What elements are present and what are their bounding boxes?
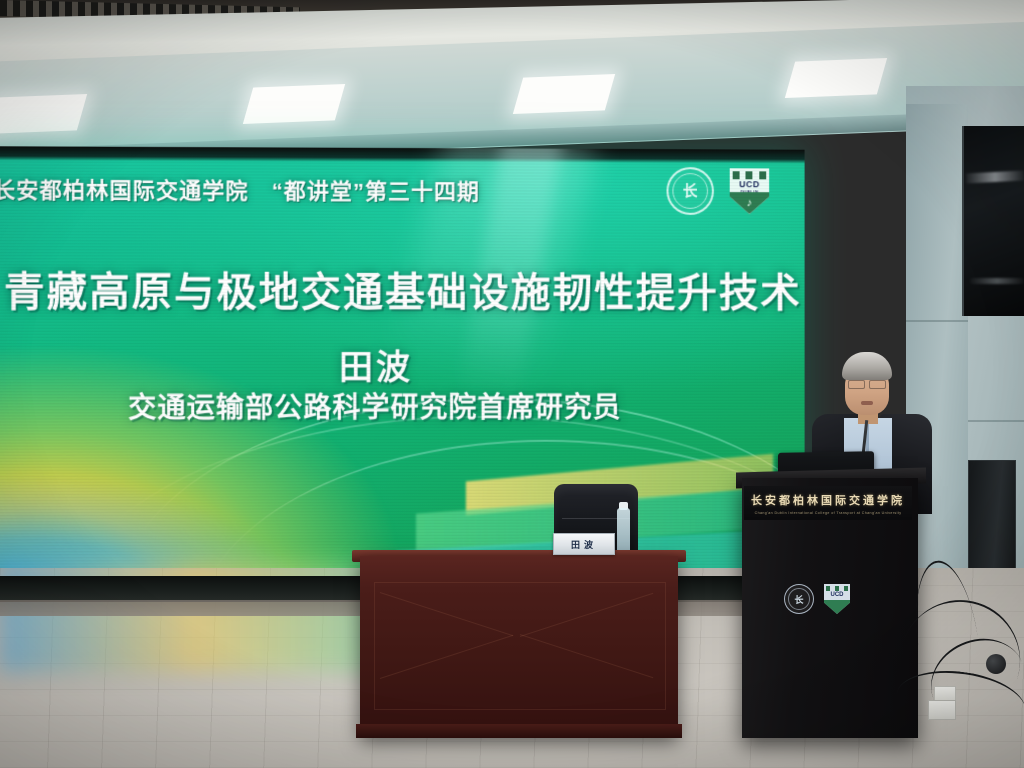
ucd-name: UCD <box>739 180 760 189</box>
desk-nameplate: 田波 <box>553 533 615 555</box>
ucd-harp-icon: ♪ <box>747 198 752 209</box>
led-header-text: 长安都柏林国际交通学院 “都讲堂”第三十四期 <box>0 172 480 206</box>
podium-sign-chinese: 长安都柏林国际交通学院 <box>751 492 905 508</box>
water-bottle <box>617 508 630 554</box>
lecture-hall-photo: 长安都柏林国际交通学院 “都讲堂”第三十四期 长 UCD DUBLIN ♪ 青藏… <box>0 0 1024 768</box>
ucd-castle-row <box>730 168 769 179</box>
podium-ucd-castle-row <box>824 584 850 591</box>
speaker-affiliation: 交通运输部公路科学研究院首席研究员 <box>0 386 753 427</box>
podium-ucd-castle-1 <box>826 586 830 591</box>
desk-nameplate-text: 田波 <box>571 538 597 551</box>
podium-logo-row: 长 UCD <box>784 584 850 614</box>
podium-ucd-castle-2 <box>835 586 839 591</box>
ceiling-light-3 <box>513 74 615 114</box>
mouth <box>861 401 873 405</box>
hair <box>842 352 892 380</box>
changan-university-seal-icon: 长 <box>666 167 713 215</box>
ceiling-light-2 <box>243 84 345 124</box>
led-display-screen: 长安都柏林国际交通学院 “都讲堂”第三十四期 长 UCD DUBLIN ♪ 青藏… <box>0 146 805 580</box>
wall-monitor <box>962 126 1024 316</box>
power-strip <box>928 700 956 720</box>
podium-seal-glyph: 长 <box>794 593 803 606</box>
podium-ucd-name: UCD <box>831 592 844 598</box>
eye-right <box>869 380 886 389</box>
seal-glyph: 长 <box>683 184 698 199</box>
presentation-desk <box>360 556 678 736</box>
desk-base-moulding <box>356 724 682 738</box>
monitor-glare <box>966 170 1024 183</box>
led-top-bezel <box>0 146 805 163</box>
ucd-castle-1 <box>733 171 740 179</box>
wall-seam-1 <box>906 320 968 322</box>
ucd-dublin-shield-icon: UCD DUBLIN ♪ <box>730 168 769 214</box>
podium-sign: 长安都柏林国际交通学院 Chang'an Dublin Internationa… <box>744 486 912 520</box>
podium-ucd-shield-lower <box>824 600 850 614</box>
eye-left <box>848 380 865 389</box>
ceiling-light-4 <box>785 58 887 98</box>
lecture-title: 青藏高原与极地交通基础设施韧性提升技术 <box>0 259 805 318</box>
desk-front-panel <box>374 582 666 710</box>
ucd-castle-3 <box>759 171 766 179</box>
podium-sign-english: Chang'an Dublin International College of… <box>755 511 902 515</box>
podium-ucd-shield-icon: UCD <box>824 584 850 614</box>
ucd-castle-2 <box>746 171 753 179</box>
podium-changan-seal-icon: 长 <box>784 584 814 614</box>
speaker-name: 田波 <box>0 340 753 389</box>
monitor-glare-secondary <box>970 278 1024 284</box>
equipment-wheel <box>986 654 1006 674</box>
led-logo-row: 长 UCD DUBLIN ♪ <box>666 167 769 215</box>
ceiling-light-1 <box>0 94 87 134</box>
wall-seam-2 <box>968 420 1024 422</box>
podium-ucd-castle-3 <box>844 586 848 591</box>
